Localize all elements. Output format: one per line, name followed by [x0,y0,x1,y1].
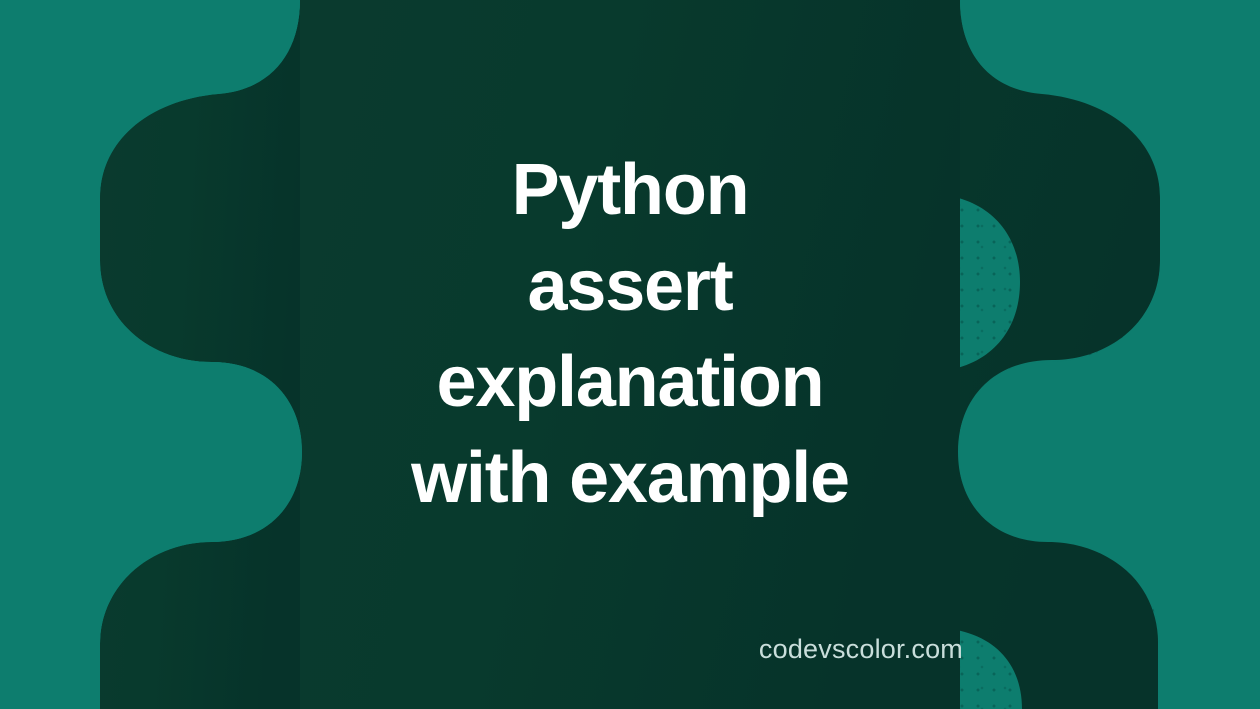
title-line-1: Python [170,142,1090,238]
title-line-3: explanation [170,334,1090,430]
banner-canvas: Python assert explanation with example c… [0,0,1260,709]
page-title: Python assert explanation with example [0,142,1260,526]
site-watermark: codevscolor.com [759,636,963,663]
title-line-2: assert [170,238,1090,334]
banner-content: Python assert explanation with example c… [0,0,1260,709]
title-line-4: with example [170,430,1090,526]
